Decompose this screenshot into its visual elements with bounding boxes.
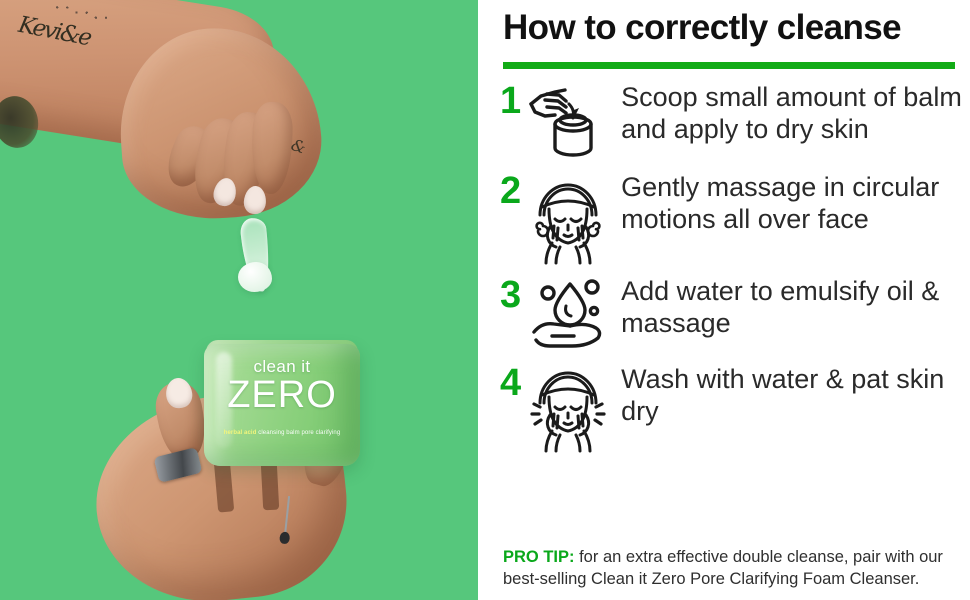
step-item-2: 2 [478,170,970,266]
step-text-3: Add water to emulsify oil & massage [615,274,970,340]
face-massage-circular-icon [521,170,615,266]
steps-list: 1 [478,80,970,460]
page-title: How to correctly cleanse [503,8,901,48]
product-photo-panel: Kevi&e & clean it ZERO herbal acid clean… [0,0,478,600]
step-text-4: Wash with water & pat skin dry [615,362,970,428]
balm-blob [238,262,272,292]
step-number-3: 3 [478,276,521,314]
step-item-3: 3 Add wat [478,274,970,354]
step-number-4: 4 [478,364,521,402]
step-item-4: 4 [478,362,970,452]
product-name: ZERO [204,376,360,414]
pro-tip: PRO TIP: for an extra effective double c… [503,546,955,591]
product-subtext: herbal acid cleansing balm pore clarifyi… [204,430,360,436]
step-number-1: 1 [478,82,521,120]
product-brand-line: clean it [204,358,360,375]
step-text-2: Gently massage in circular motions all o… [615,170,970,236]
product-subtext-rest: cleansing balm pore clarifying [258,430,340,436]
hand-water-droplet-icon [521,274,615,354]
product-subtext-highlight: herbal acid [224,430,257,436]
step-number-2: 2 [478,172,521,210]
step-item-1: 1 [478,80,970,162]
instructions-panel: How to correctly cleanse 1 [478,0,970,600]
infographic-page: Kevi&e & clean it ZERO herbal acid clean… [0,0,970,600]
product-jar-label: clean it ZERO [204,358,360,414]
finger-gap-shadow-2 [261,462,279,511]
title-divider-rule [503,62,955,69]
face-wash-splash-icon [521,362,615,452]
step-text-1: Scoop small amount of balm and apply to … [615,80,970,146]
hand-scooping-jar-icon [521,80,615,162]
pro-tip-label: PRO TIP: [503,548,575,566]
